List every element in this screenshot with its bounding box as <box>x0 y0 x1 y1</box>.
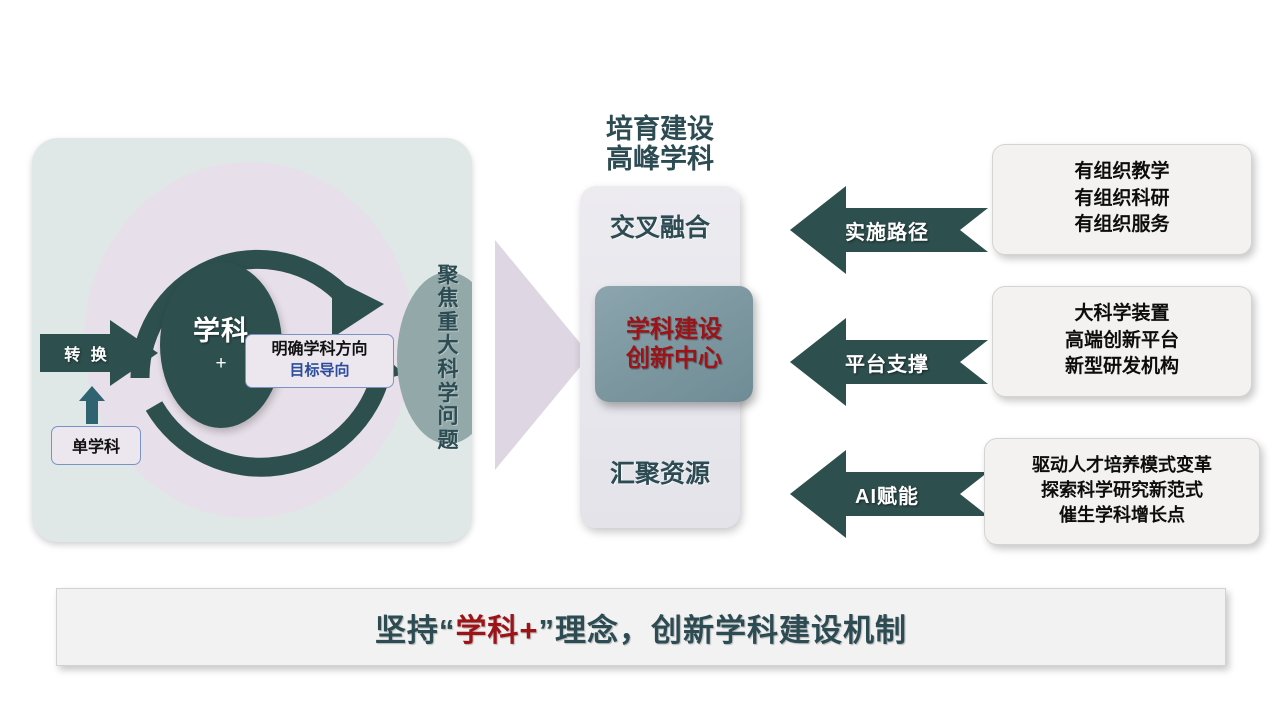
card-platform-support: 大科学装置 高端创新平台 新型研发机构 <box>992 286 1252 397</box>
card-implementation-path-line1: 有组织教学 <box>999 159 1245 186</box>
center-pillar-panel: 交叉融合 学科建设 创新中心 汇聚资源 <box>580 186 740 528</box>
card-implementation-path-line2: 有组织科研 <box>999 186 1245 213</box>
arrow-label-ai-empowerment: AI赋能 <box>812 474 962 514</box>
banner-text-part2: 学科+ <box>455 605 538 650</box>
card-ai-empowerment: 驱动人才培养模式变革 探索科学研究新范式 催生学科增长点 <box>984 438 1260 545</box>
discipline-innovation-center-line1: 学科建设 <box>626 315 722 344</box>
core-discipline-plus: + <box>215 354 226 373</box>
card-platform-support-line1: 大科学装置 <box>999 301 1245 328</box>
center-label-interdisciplinary: 交叉融合 <box>580 208 740 244</box>
banner-text-part3: ”理念，创新学科建设机制 <box>539 605 908 650</box>
card-platform-support-line3: 新型研发机构 <box>999 354 1245 381</box>
center-panel-title-line2: 高峰学科 <box>560 144 760 174</box>
lavender-chevron-icon <box>495 240 590 470</box>
arrow-label-implementation-path: 实施路径 <box>812 210 962 250</box>
tag-discipline-direction-line1: 明确学科方向 <box>256 341 383 360</box>
card-implementation-path-line3: 有组织服务 <box>999 212 1245 239</box>
diagram-canvas: 学科 + 聚焦重大科学问题 明确学科方向 目标导向 做实人才团队 系统观念 转 … <box>0 0 1279 718</box>
card-ai-empowerment-line1: 驱动人才培养模式变革 <box>991 453 1253 478</box>
single-discipline-box: 单学科 <box>51 426 141 465</box>
card-implementation-path: 有组织教学 有组织科研 有组织服务 <box>992 144 1252 255</box>
focus-major-science-label: 聚焦重大科学问题 <box>435 264 461 452</box>
arrow-label-platform-support: 平台支撑 <box>812 342 962 382</box>
discipline-innovation-center-box: 学科建设 创新中心 <box>595 286 753 402</box>
tag-discipline-direction: 明确学科方向 目标导向 <box>245 334 394 388</box>
card-ai-empowerment-line3: 催生学科增长点 <box>991 503 1253 528</box>
conversion-arrow-label: 转 换 <box>54 338 120 368</box>
single-discipline-label: 单学科 <box>72 439 120 456</box>
bottom-slogan-banner: 坚持“ 学科+ ”理念，创新学科建设机制 <box>56 588 1226 666</box>
core-discipline-label: 学科 <box>193 318 249 345</box>
left-cycle-panel: 学科 + 聚焦重大科学问题 明确学科方向 目标导向 做实人才团队 系统观念 转 … <box>32 138 472 542</box>
tag-discipline-direction-line2: 目标导向 <box>256 362 383 380</box>
upward-arrow-icon <box>79 386 105 424</box>
center-panel-title-line1: 培育建设 <box>560 114 760 144</box>
center-panel-title: 培育建设 高峰学科 <box>560 114 760 174</box>
card-platform-support-line2: 高端创新平台 <box>999 328 1245 355</box>
discipline-innovation-center-line2: 创新中心 <box>626 344 722 373</box>
card-ai-empowerment-line2: 探索科学研究新范式 <box>991 478 1253 503</box>
center-label-resources: 汇聚资源 <box>580 454 740 490</box>
banner-text-part1: 坚持“ <box>375 605 456 650</box>
